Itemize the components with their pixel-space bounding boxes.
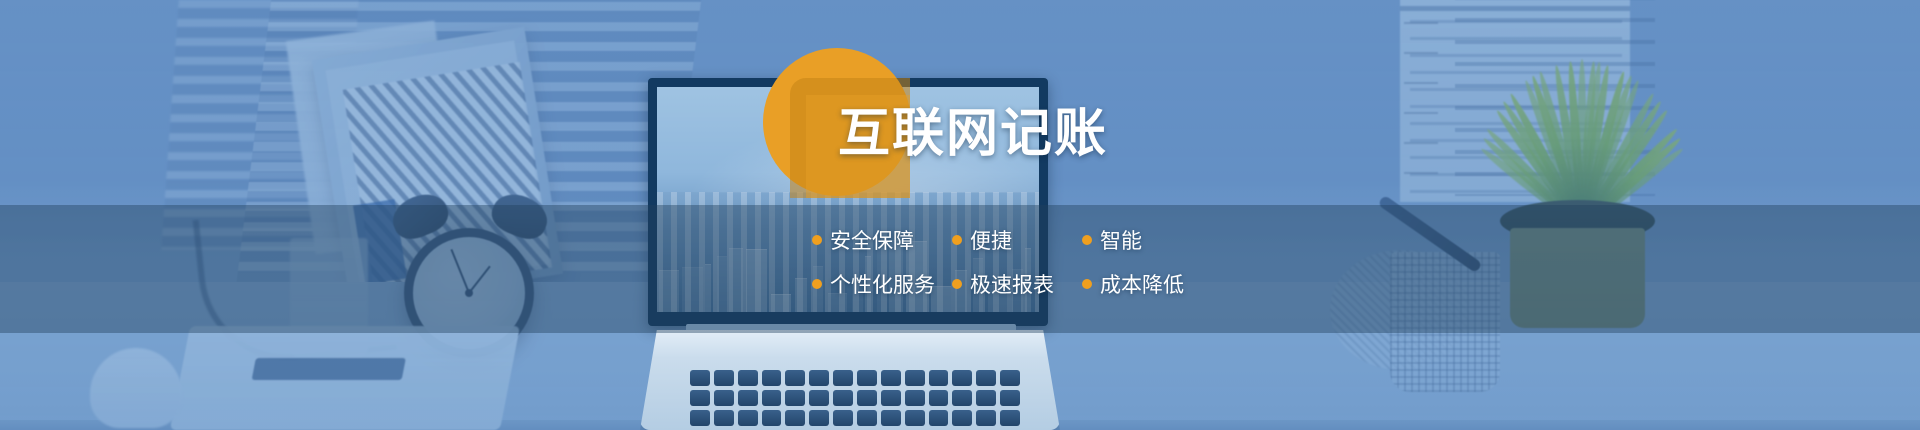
feature-item-smart: 智能 xyxy=(1082,225,1142,255)
feature-item-cost-reduction: 成本降低 xyxy=(1082,269,1184,299)
feature-label: 个性化服务 xyxy=(830,269,935,299)
feature-list: 安全保障 便捷 智能 个性化服务 极速报表 xyxy=(812,225,1232,313)
orange-dot-icon xyxy=(812,235,822,245)
banner-content: 互联网记账 安全保障 便捷 智能 个性化服务 xyxy=(0,0,1920,430)
orange-dot-icon xyxy=(952,279,962,289)
orange-dot-icon xyxy=(1082,235,1092,245)
orange-dot-icon xyxy=(952,235,962,245)
feature-label: 智能 xyxy=(1100,225,1142,255)
feature-item-personalized: 个性化服务 xyxy=(812,269,952,299)
feature-row: 安全保障 便捷 智能 xyxy=(812,225,1232,255)
feature-label: 成本降低 xyxy=(1100,269,1184,299)
orange-dot-icon xyxy=(1082,279,1092,289)
page-title: 互联网记账 xyxy=(838,108,1108,160)
feature-label: 安全保障 xyxy=(830,225,914,255)
feature-row: 个性化服务 极速报表 成本降低 xyxy=(812,269,1232,299)
orange-dot-icon xyxy=(812,279,822,289)
feature-item-convenient: 便捷 xyxy=(952,225,1082,255)
feature-label: 便捷 xyxy=(970,225,1012,255)
promo-banner: 互联网记账 安全保障 便捷 智能 个性化服务 xyxy=(0,0,1920,430)
feature-item-fast-reports: 极速报表 xyxy=(952,269,1082,299)
feature-label: 极速报表 xyxy=(970,269,1054,299)
feature-item-security: 安全保障 xyxy=(812,225,952,255)
